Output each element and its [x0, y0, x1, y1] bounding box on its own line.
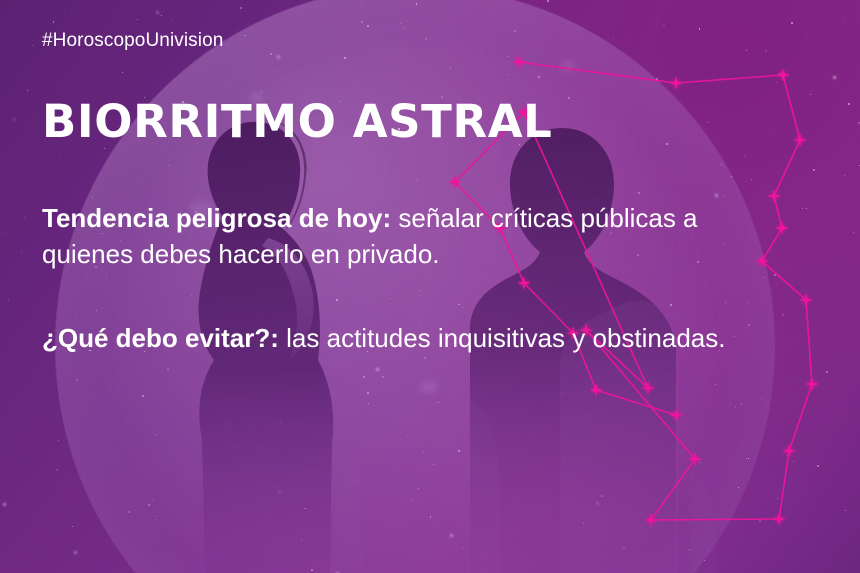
paragraph-evitar: ¿Qué debo evitar?: las actitudes inquisi…	[42, 320, 762, 356]
paragraph-2-label: ¿Qué debo evitar?:	[42, 323, 279, 353]
constellation-line	[779, 451, 789, 519]
constellation-line	[789, 384, 812, 451]
constellation-line	[783, 75, 800, 140]
constellation-star-node	[793, 133, 808, 148]
constellation-star-node	[669, 76, 684, 91]
constellation-star-node	[669, 408, 684, 423]
paragraph-tendencia: Tendencia peligrosa de hoy: señalar crít…	[42, 200, 762, 272]
horoscope-card: #HoroscopoUnivision BIORRITMO ASTRAL Ten…	[0, 0, 860, 573]
constellation-star-node	[772, 512, 787, 527]
page-title: BIORRITMO ASTRAL	[42, 95, 552, 148]
constellation-line	[676, 75, 783, 83]
constellation-star-node	[805, 377, 820, 392]
constellation-line	[762, 228, 782, 261]
constellation-star-node	[589, 383, 604, 398]
constellation-star-node	[644, 513, 659, 528]
constellation-star-node	[512, 55, 527, 70]
paragraph-2-text: las actitudes inquisitivas y obstinadas.	[279, 323, 726, 353]
constellation-line	[519, 62, 676, 83]
constellation-line	[774, 140, 800, 196]
constellation-star-node	[767, 189, 782, 204]
constellation-star-node	[782, 444, 797, 459]
constellation-line	[806, 300, 812, 384]
constellation-star-node	[775, 221, 790, 236]
constellation-line	[596, 390, 676, 415]
constellation-line	[651, 519, 779, 520]
constellation-line	[651, 459, 695, 520]
paragraph-1-label: Tendencia peligrosa de hoy:	[42, 203, 391, 233]
hashtag-label: #HoroscopoUnivision	[42, 30, 223, 52]
constellation-line	[762, 261, 806, 300]
constellation-graphic	[0, 0, 860, 573]
constellation-star-node	[776, 68, 791, 83]
